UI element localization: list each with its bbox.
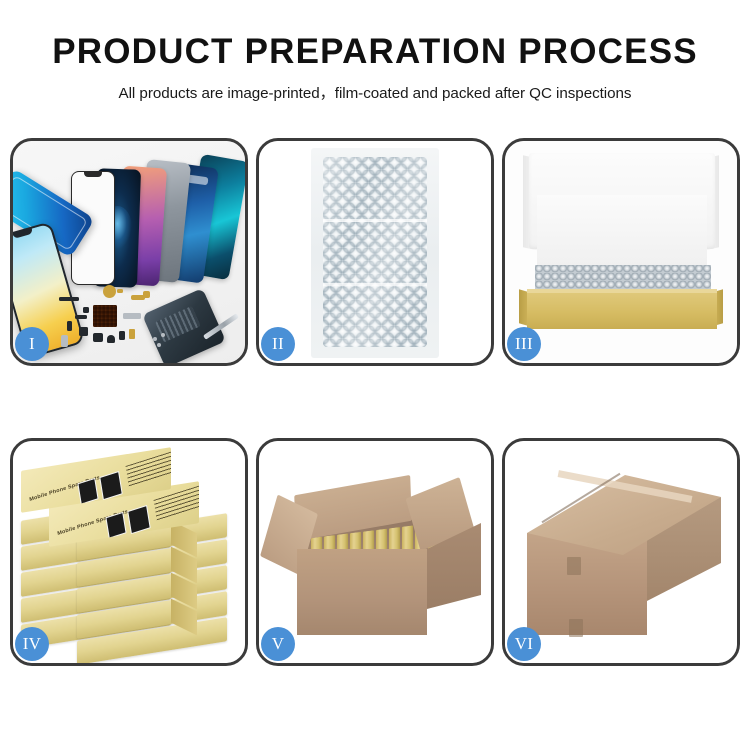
- kraft-box-packing-image: [505, 141, 737, 363]
- step-badge-3: III: [507, 327, 541, 361]
- spare-parts-cluster: [57, 283, 197, 357]
- sealed-shipping-carton-image: [505, 441, 737, 663]
- stacked-retail-boxes-image: Mobile Phone Spare Parts Mobile Phone Sp…: [13, 441, 245, 663]
- process-step-panel-6[interactable]: VI: [502, 438, 740, 666]
- header: PRODUCT PREPARATION PROCESS All products…: [0, 0, 750, 103]
- box-inner-liner: [537, 195, 707, 267]
- kraft-box-front: [527, 293, 717, 329]
- phone-screens-and-spare-parts-image: [13, 141, 245, 363]
- page-subtitle: All products are image-printed，film-coat…: [0, 81, 750, 103]
- process-step-grid: I II: [10, 138, 740, 666]
- step-badge-1: I: [15, 327, 49, 361]
- carton-loading-image: [259, 441, 491, 663]
- bubble-wrap-packing-image: [259, 141, 491, 363]
- page-title: PRODUCT PREPARATION PROCESS: [0, 34, 750, 71]
- step-badge-5: V: [261, 627, 295, 661]
- carton-front-panel: [297, 549, 427, 635]
- step-badge-6: VI: [507, 627, 541, 661]
- process-step-panel-2[interactable]: II: [256, 138, 494, 366]
- step-badge-4: IV: [15, 627, 49, 661]
- process-step-panel-5[interactable]: V: [256, 438, 494, 666]
- bubble-wrap-field: [323, 157, 427, 347]
- box-stack: Mobile Phone Spare Parts Mobile Phone Sp…: [21, 453, 237, 653]
- process-step-panel-3[interactable]: III: [502, 138, 740, 366]
- process-step-panel-1[interactable]: I: [10, 138, 248, 366]
- step-badge-2: II: [261, 327, 295, 361]
- process-step-panel-4[interactable]: Mobile Phone Spare Parts Mobile Phone Sp…: [10, 438, 248, 666]
